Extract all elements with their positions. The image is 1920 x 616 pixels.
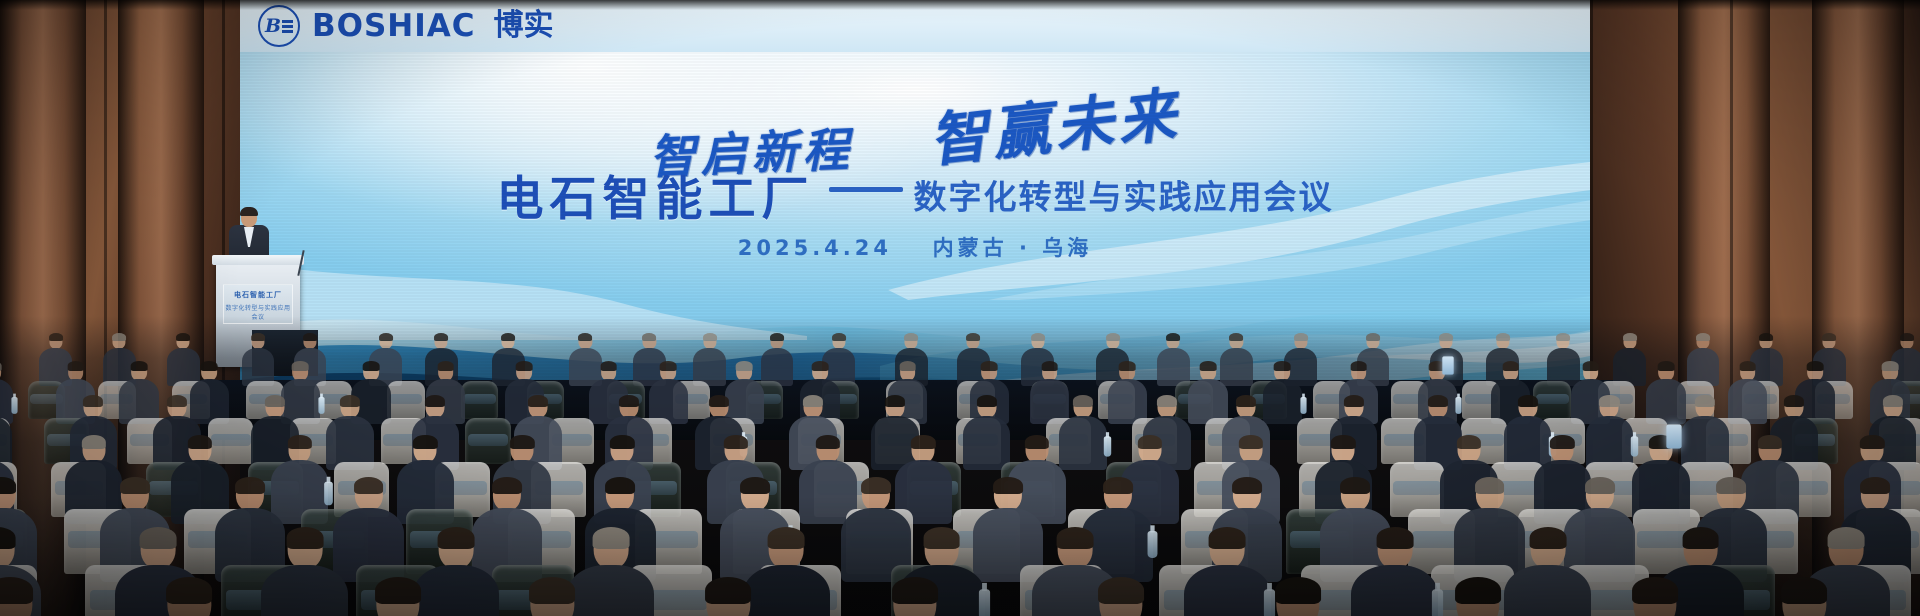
audience-hair — [1599, 395, 1619, 407]
main-title-row: 电石智能工厂 数字化转型与实践应用会议 — [240, 160, 1590, 229]
audience-hair — [736, 361, 753, 371]
audience-hair — [375, 577, 421, 604]
audience-hair — [1828, 527, 1865, 549]
event-city: 乌海 — [1042, 236, 1092, 260]
podium-sign-line1: 电石智能工厂 — [224, 290, 292, 300]
title-dash-icon — [829, 187, 903, 192]
audience-hair — [1200, 361, 1217, 371]
audience-hair — [1138, 435, 1162, 449]
audience-member — [1067, 578, 1175, 616]
audience-member — [1424, 578, 1532, 616]
audience-hair — [1496, 333, 1510, 341]
audience-hair — [723, 435, 747, 449]
water-bottle — [318, 397, 324, 414]
audience-hair — [167, 395, 187, 407]
audience-hair — [120, 477, 150, 494]
audience-hair — [131, 361, 148, 371]
audience-hair — [1759, 333, 1773, 341]
water-bottle — [1300, 397, 1306, 414]
audience-member — [693, 334, 726, 386]
audience-hair — [292, 361, 309, 371]
audience-chair — [461, 381, 498, 419]
audience-hair — [1716, 477, 1746, 494]
audience-hair — [176, 333, 190, 341]
audience-hair — [1582, 361, 1599, 371]
audience-area — [0, 316, 1920, 616]
audience-hair — [1900, 333, 1914, 341]
audience-hair — [413, 435, 437, 449]
audience-hair — [703, 333, 717, 341]
audience-hair — [1340, 477, 1370, 494]
audience-member — [135, 578, 243, 616]
audience-hair — [140, 527, 177, 549]
audience-hair — [1232, 477, 1262, 494]
audience-hair — [1274, 361, 1291, 371]
audience-hair — [911, 435, 935, 449]
audience-hair — [1236, 395, 1256, 407]
conference-photo: 智启新程 智赢未来 电石智能工厂 数字化转型与实践应用会议 2025.4.24 … — [0, 0, 1920, 616]
boshiac-circle-logo-icon: B — [258, 5, 300, 47]
audience-hair — [166, 577, 212, 604]
audience-hair — [1031, 333, 1045, 341]
audience-body — [649, 379, 688, 424]
audience-hair — [1294, 333, 1308, 341]
audience-hair — [1475, 477, 1505, 494]
audience-member — [1601, 578, 1709, 616]
audience-hair — [1657, 361, 1674, 371]
audience-hair — [592, 527, 629, 549]
audience-hair — [251, 333, 265, 341]
audience-hair — [1739, 361, 1756, 371]
audience-hair — [438, 527, 475, 549]
audience-hair — [923, 527, 960, 549]
audience-hair — [610, 435, 634, 449]
audience-hair — [1529, 527, 1566, 549]
page-title: 电石智能工厂 — [497, 172, 815, 227]
audience-member — [674, 578, 782, 616]
audience-hair — [705, 577, 751, 604]
audience-hair — [660, 361, 677, 371]
audience-hair — [303, 333, 317, 341]
audience-hair — [0, 361, 2, 371]
audience-hair — [1455, 577, 1501, 604]
audience-hair — [740, 477, 770, 494]
audience-hair — [885, 395, 905, 407]
audience-hair — [530, 577, 576, 604]
audience-hair — [379, 333, 393, 341]
audience-member — [1687, 334, 1720, 386]
podium-top — [212, 255, 304, 265]
brand-latin-name: BOSHIAC — [312, 11, 476, 42]
audience-hair — [1106, 333, 1120, 341]
audience-hair — [1623, 333, 1637, 341]
audience-hair — [1166, 333, 1180, 341]
audience-hair — [286, 527, 323, 549]
audience-hair — [709, 395, 729, 407]
audience-hair — [501, 333, 515, 341]
water-bottle — [1104, 436, 1111, 456]
audience-hair — [1781, 577, 1827, 604]
audience-hair — [188, 435, 212, 449]
audience-hair — [1239, 435, 1263, 449]
audience-hair — [993, 477, 1023, 494]
audience-member — [261, 528, 348, 616]
audience-hair — [1230, 333, 1244, 341]
audience-body — [261, 565, 348, 616]
audience-hair — [492, 477, 522, 494]
audience-hair — [1119, 361, 1136, 371]
audience-member — [1750, 578, 1858, 616]
audience-hair — [1376, 527, 1413, 549]
audience-hair — [1041, 361, 1058, 371]
audience-hair — [1860, 435, 1884, 449]
audience-hair — [1860, 477, 1890, 494]
audience-hair — [510, 435, 534, 449]
audience-hair — [1366, 333, 1380, 341]
audience-hair — [1457, 435, 1481, 449]
audience-hair — [1057, 527, 1094, 549]
audience-hair — [976, 395, 996, 407]
audience-hair — [516, 361, 533, 371]
audience-member — [649, 362, 688, 424]
audience-member — [963, 396, 1011, 470]
audience-hair — [1632, 577, 1678, 604]
audience-hair — [832, 333, 846, 341]
page-subtitle: 数字化转型与实践应用会议 — [913, 178, 1333, 217]
audience-hair — [1439, 333, 1453, 341]
brand-logo: B BOSHIAC 博实 — [258, 5, 554, 47]
audience-member — [1728, 362, 1767, 424]
audience-hair — [434, 333, 448, 341]
audience-hair — [1025, 435, 1049, 449]
audience-hair — [1696, 333, 1710, 341]
audience-hair — [899, 361, 916, 371]
water-bottle — [12, 397, 18, 414]
audience-member — [344, 578, 452, 616]
audience-hair — [340, 395, 360, 407]
audience-hair — [1556, 333, 1570, 341]
raised-phone — [1666, 425, 1681, 449]
chair-band — [463, 394, 496, 404]
water-bottle — [1148, 531, 1158, 558]
audience-hair — [1073, 395, 1093, 407]
brand-chinese-name: 博实 — [494, 11, 554, 41]
audience-hair — [1275, 577, 1321, 604]
audience-hair — [201, 361, 218, 371]
audience-hair — [1331, 435, 1355, 449]
audience-hair — [1882, 361, 1899, 371]
audience-hair — [966, 333, 980, 341]
raised-phone — [1442, 356, 1454, 374]
audience-member — [1646, 362, 1685, 424]
audience-hair — [1807, 361, 1824, 371]
audience-body — [1728, 379, 1767, 424]
audience-hair — [579, 333, 593, 341]
audience-body — [1108, 379, 1147, 424]
audience-hair — [437, 361, 454, 371]
audience-hair — [287, 435, 311, 449]
audience-hair — [812, 361, 829, 371]
audience-hair — [816, 435, 840, 449]
water-bottle — [979, 589, 990, 616]
audience-member — [1613, 334, 1646, 386]
audience-body — [1059, 416, 1107, 470]
audience-hair — [643, 333, 657, 341]
audience-hair — [768, 527, 805, 549]
audience-hair — [1682, 527, 1719, 549]
audience-hair — [1695, 395, 1715, 407]
audience-member — [1586, 396, 1634, 470]
audience-member — [1108, 362, 1147, 424]
audience-member — [761, 334, 794, 386]
audience-hair — [1343, 395, 1363, 407]
audience-hair — [861, 477, 891, 494]
audience-member — [0, 578, 65, 616]
event-province: 内蒙古 — [933, 236, 1008, 260]
audience-hair — [67, 361, 84, 371]
audience-hair — [605, 477, 635, 494]
audience-hair — [1758, 435, 1782, 449]
audience-hair — [83, 395, 103, 407]
audience-member — [498, 578, 606, 616]
audience-hair — [1502, 361, 1519, 371]
audience-member — [242, 334, 275, 386]
audience-hair — [81, 435, 105, 449]
audience-hair — [354, 477, 384, 494]
audience-hair — [981, 361, 998, 371]
audience-member — [1244, 578, 1352, 616]
audience-hair — [770, 333, 784, 341]
audience-body — [1646, 379, 1685, 424]
audience-hair — [1098, 577, 1144, 604]
audience-hair — [1103, 477, 1133, 494]
audience-hair — [892, 577, 938, 604]
audience-hair — [0, 477, 17, 494]
audience-hair — [49, 333, 63, 341]
audience-member — [1059, 396, 1107, 470]
audience-hair — [1822, 333, 1836, 341]
audience-hair — [904, 333, 918, 341]
audience-hair — [619, 395, 639, 407]
audience-hair — [0, 527, 16, 549]
audience-hair — [1209, 527, 1246, 549]
audience-hair — [235, 477, 265, 494]
audience-hair — [1350, 361, 1367, 371]
audience-hair — [1518, 395, 1538, 407]
audience-hair — [425, 395, 445, 407]
audience-hair — [1784, 395, 1804, 407]
audience-hair — [528, 395, 548, 407]
water-bottle — [325, 482, 334, 506]
audience-member — [861, 578, 969, 616]
audience-hair — [1550, 435, 1574, 449]
audience-hair — [1585, 477, 1615, 494]
event-date-location: 2025.4.24 内蒙古 · 乌海 — [240, 232, 1590, 262]
brand-bar: B BOSHIAC 博实 — [240, 0, 1590, 52]
audience-body — [963, 416, 1011, 470]
audience-hair — [1428, 395, 1448, 407]
audience-hair — [1157, 395, 1177, 407]
audience-hair — [1883, 395, 1903, 407]
audience-hair — [600, 361, 617, 371]
audience-hair — [363, 361, 380, 371]
audience-hair — [0, 577, 33, 604]
audience-hair — [112, 333, 126, 341]
audience-member — [1157, 334, 1190, 386]
chair-band — [1393, 481, 1441, 495]
event-date: 2025.4.24 — [738, 236, 892, 260]
audience-hair — [803, 395, 823, 407]
audience-member — [326, 396, 374, 470]
audience-hair — [265, 395, 285, 407]
date-separator-dot: · — [1019, 236, 1031, 260]
